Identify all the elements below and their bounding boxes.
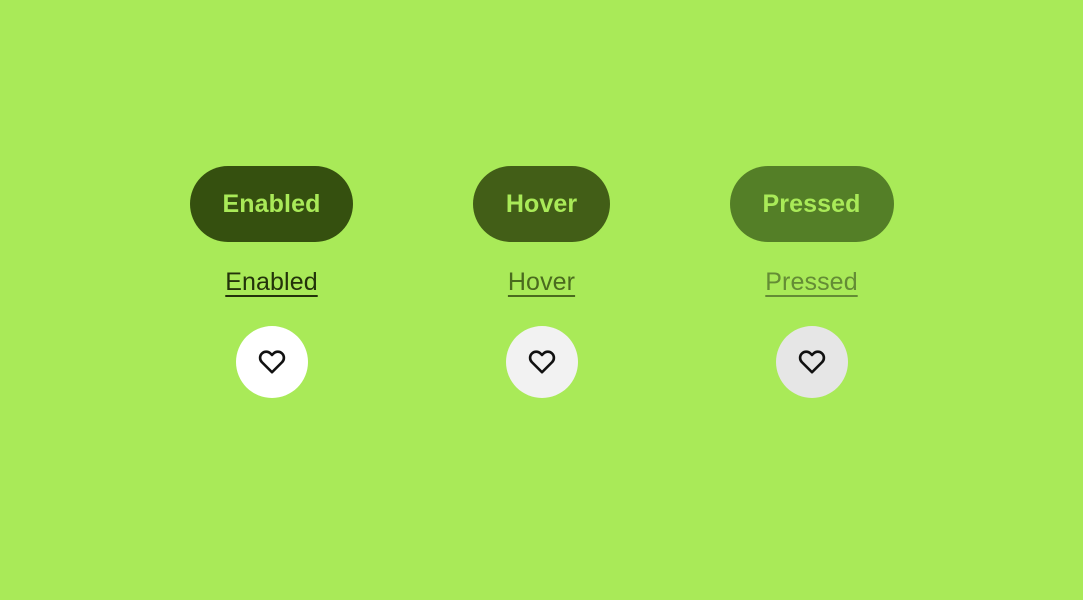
filled-button-pressed[interactable]: Pressed xyxy=(730,166,894,242)
text-link-cell-pressed: Pressed xyxy=(719,270,904,295)
filled-button-cell-hover: Hover xyxy=(449,166,634,242)
icon-button-row xyxy=(179,326,904,398)
text-link-cell-hover: Hover xyxy=(449,270,634,295)
text-link-pressed[interactable]: Pressed xyxy=(765,270,857,295)
heart-icon xyxy=(257,347,287,377)
heart-icon xyxy=(527,347,557,377)
icon-button-cell-hover xyxy=(449,326,634,398)
text-link-cell-enabled: Enabled xyxy=(179,270,364,295)
filled-button-enabled[interactable]: Enabled xyxy=(190,166,354,242)
filled-button-cell-enabled: Enabled xyxy=(179,166,364,242)
button-states-showcase: Enabled Hover Pressed Enabled Hover Pres… xyxy=(0,0,1083,600)
filled-button-cell-pressed: Pressed xyxy=(719,166,904,242)
favorite-icon-button-enabled[interactable] xyxy=(236,326,308,398)
text-link-row: Enabled Hover Pressed xyxy=(179,262,904,302)
favorite-icon-button-hover[interactable] xyxy=(506,326,578,398)
filled-button-hover[interactable]: Hover xyxy=(473,166,610,242)
filled-button-row: Enabled Hover Pressed xyxy=(179,166,904,242)
text-link-hover[interactable]: Hover xyxy=(508,270,575,295)
state-grid: Enabled Hover Pressed Enabled Hover Pres… xyxy=(179,166,904,398)
icon-button-cell-pressed xyxy=(719,326,904,398)
icon-button-cell-enabled xyxy=(179,326,364,398)
favorite-icon-button-pressed[interactable] xyxy=(776,326,848,398)
heart-icon xyxy=(797,347,827,377)
text-link-enabled[interactable]: Enabled xyxy=(225,270,317,295)
